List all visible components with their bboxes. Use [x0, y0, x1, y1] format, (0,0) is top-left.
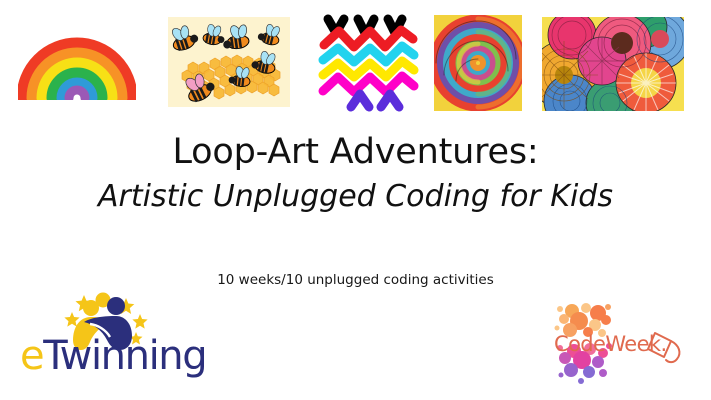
etwinning-word-twinning: Twinning	[43, 333, 206, 379]
presentation-slide: Loop-Art Adventures: Artistic Unplugged …	[0, 0, 711, 400]
artwork-strip	[0, 0, 711, 125]
etwinning-wordmark: eTwinning	[20, 336, 185, 376]
rainbow-artwork	[18, 24, 136, 100]
bees-honeycomb-artwork	[168, 17, 290, 107]
chevron-zigzag-artwork	[318, 11, 420, 113]
flowers-artwork	[542, 17, 684, 111]
slide-title: Loop-Art Adventures:	[0, 133, 711, 172]
spiral-artwork	[434, 15, 522, 111]
etwinning-logo: eTwinning	[20, 292, 185, 392]
codeweek-wordmark: CodeWeek.	[554, 332, 667, 356]
slide-subtitle: Artistic Unplugged Coding for Kids	[0, 180, 711, 215]
etwinning-word-e: e	[20, 333, 43, 379]
slide-tagline: 10 weeks/10 unplugged coding activities	[0, 272, 711, 288]
codeweek-logo: CodeWeek.	[548, 303, 698, 385]
